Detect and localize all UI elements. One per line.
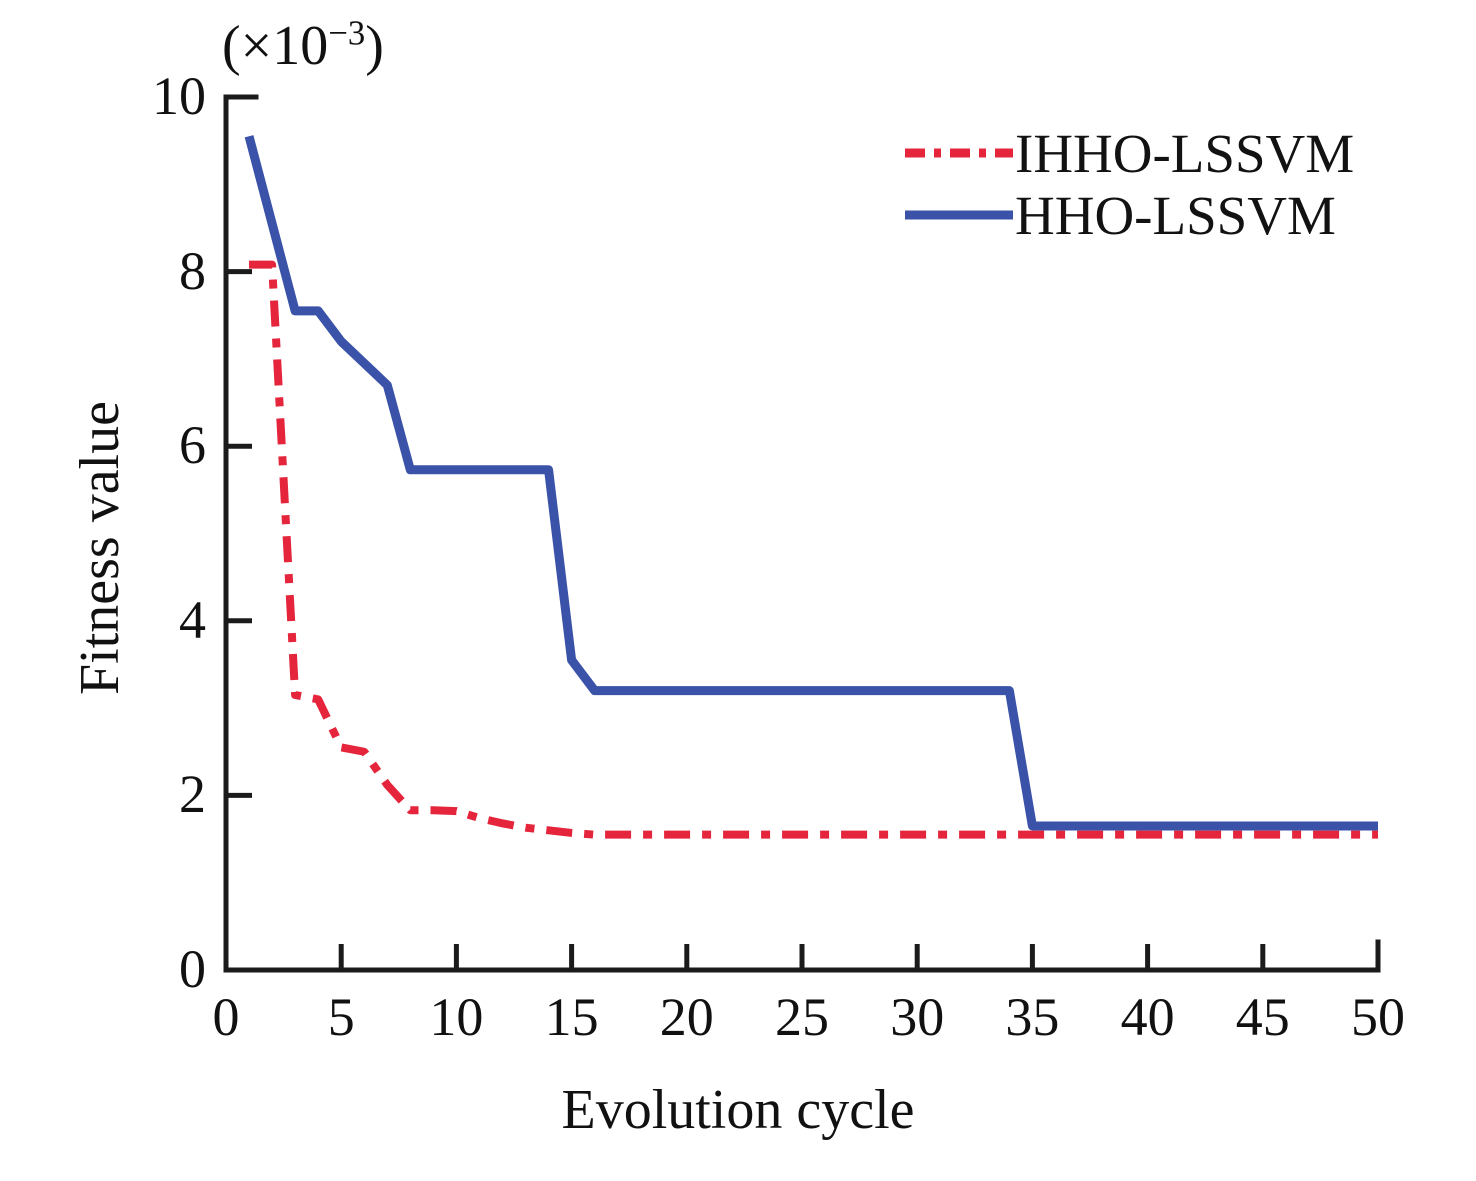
x-axis-tick-label: 5 <box>281 990 401 1044</box>
x-axis-tick-label: 0 <box>166 990 286 1044</box>
y-axis-multiplier-base: (×10 <box>222 15 328 77</box>
legend-item-1[interactable]: HHO-LSSVM <box>905 184 1425 246</box>
y-axis-tick-label: 10 <box>86 69 206 123</box>
legend-label: IHHO-LSSVM <box>1015 126 1354 181</box>
legend-label: HHO-LSSVM <box>1015 188 1336 243</box>
x-axis-tick-label: 40 <box>1088 990 1208 1044</box>
y-axis-title: Fitness value <box>72 308 128 788</box>
y-axis-multiplier-label: (×10−3) <box>222 18 384 74</box>
x-axis-ticks <box>341 944 1263 970</box>
x-axis-title: Evolution cycle <box>0 1082 1476 1138</box>
y-axis-ticks <box>226 97 252 795</box>
y-axis-tick-label: 0 <box>86 942 206 996</box>
y-axis-tick-label: 6 <box>86 418 206 472</box>
series-line-0 <box>249 265 1378 835</box>
x-axis-tick-label: 50 <box>1318 990 1438 1044</box>
legend-swatch-icon <box>905 208 1013 222</box>
x-axis-tick-label: 30 <box>857 990 977 1044</box>
x-axis-tick-label: 45 <box>1203 990 1323 1044</box>
chart-legend: IHHO-LSSVMHHO-LSSVM <box>905 122 1425 246</box>
x-axis-tick-label: 25 <box>742 990 862 1044</box>
y-axis-tick-label: 2 <box>86 767 206 821</box>
x-axis-tick-label: 15 <box>512 990 632 1044</box>
y-axis-multiplier-close: ) <box>365 15 384 77</box>
y-axis-tick-label: 4 <box>86 593 206 647</box>
y-axis-multiplier-exponent: −3 <box>328 13 365 52</box>
x-axis-tick-label: 20 <box>627 990 747 1044</box>
x-axis-tick-label: 35 <box>972 990 1092 1044</box>
y-axis-tick-label: 8 <box>86 244 206 298</box>
x-axis-tick-label: 10 <box>396 990 516 1044</box>
legend-item-0[interactable]: IHHO-LSSVM <box>905 122 1425 184</box>
legend-swatch-icon <box>905 146 1013 160</box>
chart-figure: (×10−3) Fitness value Evolution cycle 02… <box>0 0 1476 1181</box>
